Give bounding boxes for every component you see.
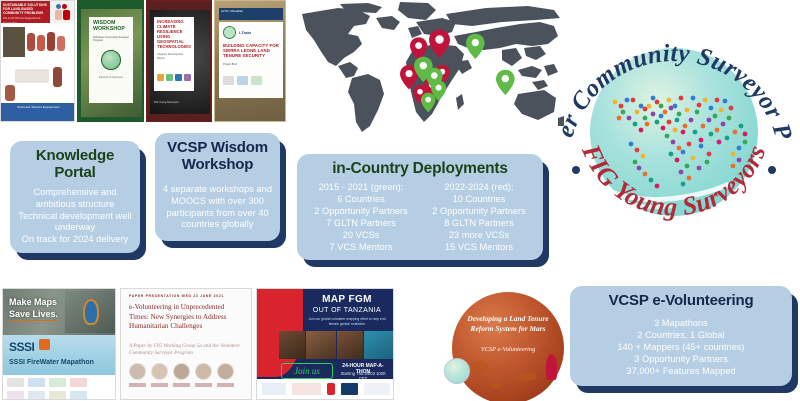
vcsp-wisdom-workshop-box[interactable]: VCSP Wisdom Workshop 4 separate workshop… xyxy=(155,133,280,241)
in-country-right-line-0: 10 Countries xyxy=(423,194,535,206)
thumb4-headline: BUILDING CAPACITY FOR SIERRA LEONE LAND … xyxy=(223,43,279,58)
infographic-canvas: Sustainable Solutions for Land-Based Com… xyxy=(0,0,800,401)
thumb3-footer: FIG Young Surveyors xyxy=(154,101,179,104)
in-country-deployments-title: in-Country Deployments xyxy=(305,160,535,177)
thumb2-subline: Volunteer Community Surveyor Program xyxy=(93,36,129,43)
vcsp-wisdom-workshop-body: 4 separate workshops and MOOCS with over… xyxy=(163,184,272,232)
thumb1-subline: FIG & UN Women Regional Hub xyxy=(3,17,48,20)
thumb2-globe-icon xyxy=(101,50,121,70)
firewater-line2: Save Lives. xyxy=(9,309,58,321)
paper-title: e-Volunteering in Unprecedented Times: N… xyxy=(129,303,243,332)
paper-subtitle: A Paper by FIG Working Group 5a and the … xyxy=(129,343,243,357)
mapfgm-cta[interactable]: Join us xyxy=(282,364,332,379)
mars-land-tenure-card[interactable]: Developing a Land Tenure Reform System f… xyxy=(452,292,564,401)
thumb-climate-resilience[interactable]: INCREASING CLIMATE RESILIENCE USING GEOS… xyxy=(146,0,212,122)
thumb3-subline: Capacity Development Report xyxy=(157,53,191,60)
thumb-firewater-mapathon[interactable]: Make Maps Save Lives. SSSI SSSI FireWate… xyxy=(2,288,116,400)
mapfgm-photo-strip xyxy=(279,331,394,359)
in-country-left-line-1: 2 Opportunity Partners xyxy=(305,206,417,218)
mapfgm-blurb: Join our global volunteer mapping effort… xyxy=(307,317,387,326)
thumb-map-fgm[interactable]: MAP FGM OUT OF TANZANIA Join our global … xyxy=(256,288,394,400)
firewater-brand: SSSI xyxy=(9,340,34,354)
thumb4-footer: Project Brief xyxy=(223,63,279,66)
knowledge-portal-box[interactable]: Knowledge Portal Comprehensive and ambit… xyxy=(10,141,140,253)
in-country-right-line-3: 23 more VCSs xyxy=(423,230,535,242)
vcsp-fig-young-surveyors-logo: Volunteer Community Surveyor Program FIG… xyxy=(549,2,799,260)
vcsp-wisdom-workshop-title: VCSP Wisdom Workshop xyxy=(163,140,272,174)
in-country-left-line-3: 20 VCSs xyxy=(305,230,417,242)
in-country-right-heading: 2022-2024 (red): xyxy=(423,182,535,194)
thumb-sustainable-solutions[interactable]: Sustainable Solutions for Land-Based Com… xyxy=(0,0,75,122)
thumb1-caption: Rural Land, Women's Empowerment xyxy=(4,106,73,109)
thumb-evolunteering-paper[interactable]: PAPER PRESENTATION WED 23 JUNE 2021 e-Vo… xyxy=(120,288,252,400)
knowledge-portal-title: Knowledge Portal xyxy=(18,148,132,182)
in-country-deployments-box[interactable]: in-Country Deployments 2015 - 2021 (gree… xyxy=(297,154,543,260)
mars-card-globe-icon xyxy=(444,358,470,384)
thumb3-headline: INCREASING CLIMATE RESILIENCE USING GEOS… xyxy=(157,20,191,49)
thumb-sierra-leone[interactable]: GLTN / UN-Habitat i-Train BUILDING CAPAC… xyxy=(214,0,286,122)
thumb4-badge-icon xyxy=(223,26,236,39)
in-country-left-heading: 2015 - 2021 (green): xyxy=(305,182,417,194)
in-country-left-line-0: 6 Countries xyxy=(305,194,417,206)
e-volunteering-line-0: 3 Mapathons xyxy=(578,318,784,330)
knowledge-portal-body: Comprehensive and ambitious structure Te… xyxy=(18,187,132,247)
firewater-caption: SSSI FireWater Mapathon xyxy=(9,359,94,366)
in-country-column-2022-2024: 2022-2024 (red): 10 Countries 2 Opportun… xyxy=(423,182,535,254)
firewater-line1: Make Maps xyxy=(9,297,57,307)
in-country-left-line-4: 7 VCS Mentors xyxy=(305,242,417,254)
mapfgm-title: MAP FGM xyxy=(307,294,387,305)
thumb1-photo xyxy=(1,23,75,103)
e-volunteering-line-1: 2 Countries, 1 Global xyxy=(578,330,784,342)
thumb2-footer: Partners & Sponsors xyxy=(93,76,129,79)
mars-card-subtitle: VCSP e-Volunteering xyxy=(452,346,564,354)
in-country-right-line-2: 8 GLTN Partners xyxy=(423,218,535,230)
e-volunteering-line-3: 3 Opportunity Partners xyxy=(578,354,784,366)
in-country-left-line-2: 7 GLTN Partners xyxy=(305,218,417,230)
thumb1-headline: Sustainable Solutions for Land-Based Com… xyxy=(3,3,48,15)
in-country-right-line-1: 2 Opportunity Partners xyxy=(423,206,535,218)
e-volunteering-line-4: 37,000+ Features Mapped xyxy=(578,366,784,378)
vcsp-e-volunteering-box[interactable]: VCSP e-Volunteering 3 Mapathons 2 Countr… xyxy=(570,286,792,386)
in-country-right-line-4: 15 VCS Mentors xyxy=(423,242,535,254)
mapfgm-subtitle: OUT OF TANZANIA xyxy=(307,307,387,314)
thumb2-headline: WISDOM WORKSHOP xyxy=(93,21,129,33)
thumb1-logo-icon xyxy=(50,1,75,23)
paper-kicker: PAPER PRESENTATION WED 23 JUNE 2021 xyxy=(129,294,245,298)
deployments-world-map xyxy=(296,0,564,138)
in-country-column-2015-2021: 2015 - 2021 (green): 6 Countries 2 Oppor… xyxy=(305,182,417,254)
firewater-brand-mark-icon xyxy=(39,339,50,350)
mars-card-rocket-icon xyxy=(546,354,557,380)
thumb4-subline: GLTN / UN-Habitat xyxy=(221,10,281,13)
mapfgm-partner-logo-icon xyxy=(327,383,335,395)
thumb-wisdom-workshop[interactable]: WISDOM WORKSHOP Volunteer Community Surv… xyxy=(77,0,144,122)
e-volunteering-line-2: 140 + Mappers (45+ countries) xyxy=(578,342,784,354)
paper-author-avatars xyxy=(129,363,234,380)
mars-card-title: Developing a Land Tenure Reform System f… xyxy=(452,314,564,334)
vcsp-e-volunteering-title: VCSP e-Volunteering xyxy=(578,293,784,310)
